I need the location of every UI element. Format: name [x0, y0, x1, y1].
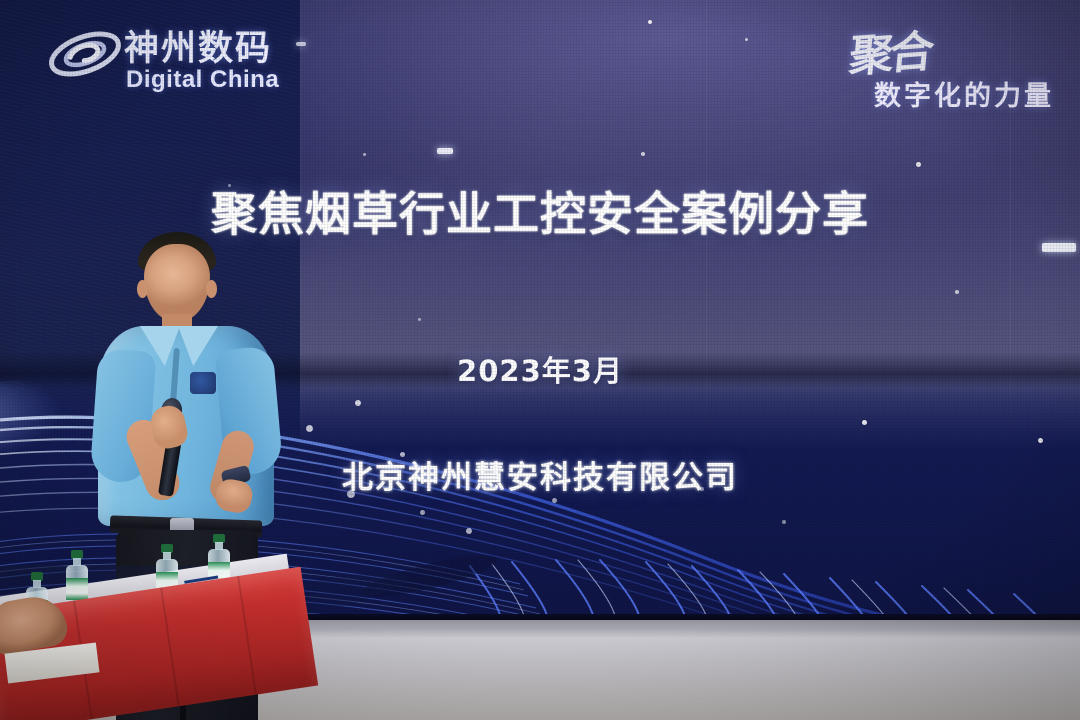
digital-china-logo: 神州数码 Digital China: [46, 14, 306, 96]
speaker-chest-badge: [190, 372, 216, 394]
speaker-head: [144, 244, 210, 322]
logo-name-cn: 神州数码: [124, 20, 272, 71]
speaker-ear-left: [137, 280, 148, 298]
skirt-fold: [160, 587, 180, 706]
speaker-ear-right: [206, 280, 217, 298]
logo-name-en: Digital China: [126, 66, 279, 94]
event-brand-tagline: 数字化的力量: [874, 74, 1054, 113]
skirt-fold: [237, 576, 257, 695]
swirl-galaxy-logo-icon: [46, 18, 124, 90]
stage-photo: 神州数码 Digital China 聚合 数字化的力量 聚焦烟草行业工控安全案…: [0, 0, 1080, 720]
event-brand-lockup: 聚合 数字化的力量: [802, 12, 1062, 112]
bottle-label: [66, 578, 88, 600]
stage-floor-shadow: [250, 620, 1080, 638]
